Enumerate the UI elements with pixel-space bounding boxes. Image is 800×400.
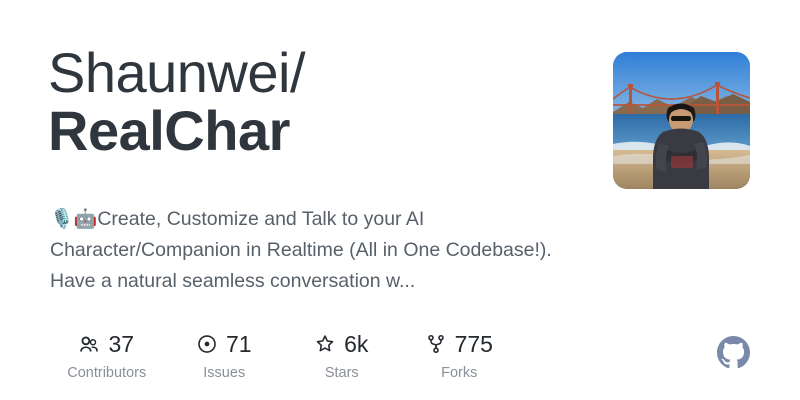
stat-value: 71 [226,331,252,357]
stat-value: 37 [108,331,134,357]
repo-stats: 37 Contributors 71 Issues [48,330,518,382]
repo-owner[interactable]: Shaunwei/ [48,44,588,102]
stat-top: 37 [79,330,134,358]
github-mark-icon [717,336,750,369]
stat-label: Contributors [67,364,146,382]
repo-description-text: Create, Customize and Talk to your AI Ch… [50,208,552,292]
issue-icon [197,334,217,354]
stat-top: 71 [197,330,252,358]
stat-label: Stars [325,364,359,382]
star-icon [315,334,335,354]
page-title: Shaunwei/ RealChar [48,44,588,160]
stat-top: 6k [315,330,368,358]
stat-stars: 6k Stars [283,330,401,382]
stat-forks: 775 Forks [401,330,519,382]
people-icon [79,334,99,354]
stat-issues: 71 Issues [166,330,284,382]
stat-value: 6k [344,331,368,357]
stat-contributors: 37 Contributors [48,330,166,382]
stat-value: 775 [455,331,493,357]
robot-icon: 🤖 [74,209,98,230]
studio-microphone-icon: 🎙️ [50,209,74,230]
repository-preview-card: Shaunwei/ RealChar [0,0,800,400]
avatar[interactable] [613,52,750,189]
repo-name[interactable]: RealChar [48,102,588,160]
stat-label: Forks [441,364,477,382]
fork-icon [426,334,446,354]
stat-label: Issues [203,364,245,382]
stat-top: 775 [426,330,493,358]
repo-description: 🎙️🤖Create, Customize and Talk to your AI… [50,204,580,297]
